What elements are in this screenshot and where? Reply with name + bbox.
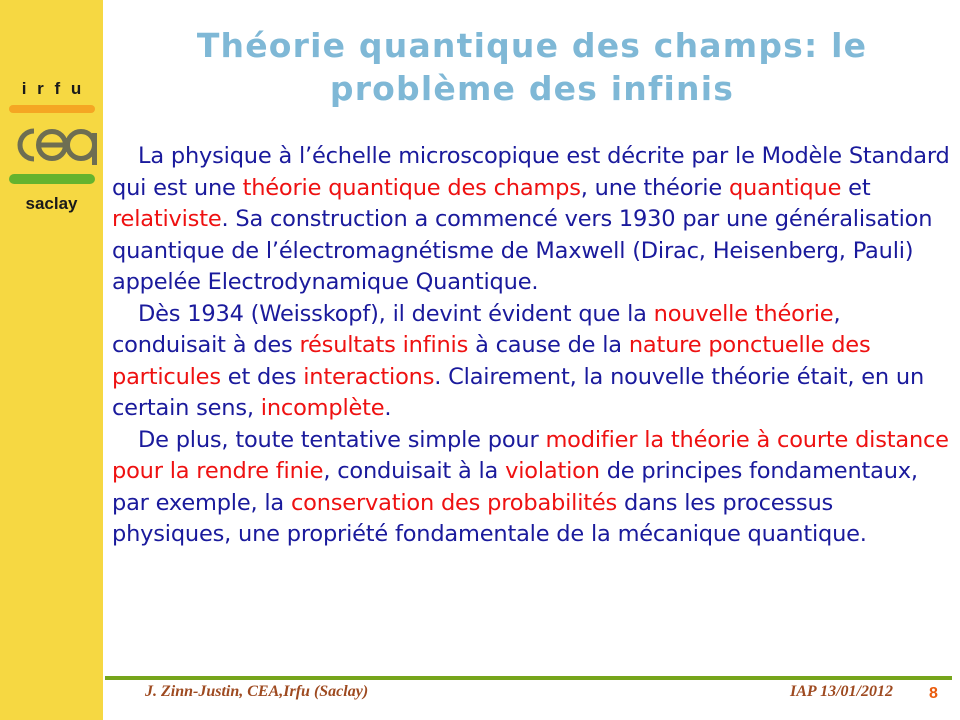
body-phrase: , une théorie — [581, 175, 729, 201]
body-phrase: . Sa construction a commencé vers 1930 p… — [112, 206, 932, 295]
highlighted-phrase: théorie quantique des champs — [243, 175, 581, 201]
highlighted-phrase: violation — [505, 458, 600, 484]
irfu-label: i r f u — [0, 78, 103, 100]
footer-author: J. Zinn-Justin, CEA,Irfu (Saclay) — [145, 683, 368, 701]
green-divider-bar — [9, 174, 95, 184]
slide-title: Théorie quantique des champs: le problèm… — [118, 24, 946, 110]
cea-logo-icon — [0, 115, 103, 173]
slide-body-text: La physique à l’échelle microscopique es… — [112, 141, 952, 551]
body-phrase: De plus, toute tentative simple pour — [138, 427, 545, 453]
body-phrase: , conduisait à la — [323, 458, 505, 484]
body-phrase: Dès 1934 (Weisskopf), il devint évident … — [138, 301, 654, 327]
body-phrase: et — [841, 175, 870, 201]
body-phrase: à cause de la — [468, 332, 629, 358]
highlighted-phrase: incomplète — [261, 395, 385, 421]
cea-irfu-logo-block: i r f u saclay — [0, 78, 103, 214]
highlighted-phrase: résultats infinis — [299, 332, 468, 358]
paragraph-1: La physique à l’échelle microscopique es… — [112, 141, 952, 299]
saclay-label: saclay — [0, 194, 103, 214]
paragraph-2: Dès 1934 (Weisskopf), il devint évident … — [112, 299, 952, 425]
paragraph-3: De plus, toute tentative simple pour mod… — [112, 425, 952, 551]
page-number: 8 — [929, 685, 938, 703]
orange-divider-bar — [9, 105, 95, 113]
highlighted-phrase: interactions — [303, 364, 434, 390]
footer-event-date: IAP 13/01/2012 — [790, 683, 893, 701]
body-phrase: et des — [221, 364, 303, 390]
highlighted-phrase: quantique — [729, 175, 841, 201]
sidebar-branding-panel: i r f u saclay — [0, 0, 103, 720]
highlighted-phrase: relativiste — [112, 206, 221, 232]
highlighted-phrase: nouvelle théorie — [654, 301, 834, 327]
highlighted-phrase: conservation des probabilités — [291, 490, 617, 516]
footer-divider-rule — [105, 676, 952, 680]
slide-canvas: i r f u saclay Théorie quantique des cha… — [0, 0, 960, 720]
body-phrase: . — [384, 395, 391, 421]
